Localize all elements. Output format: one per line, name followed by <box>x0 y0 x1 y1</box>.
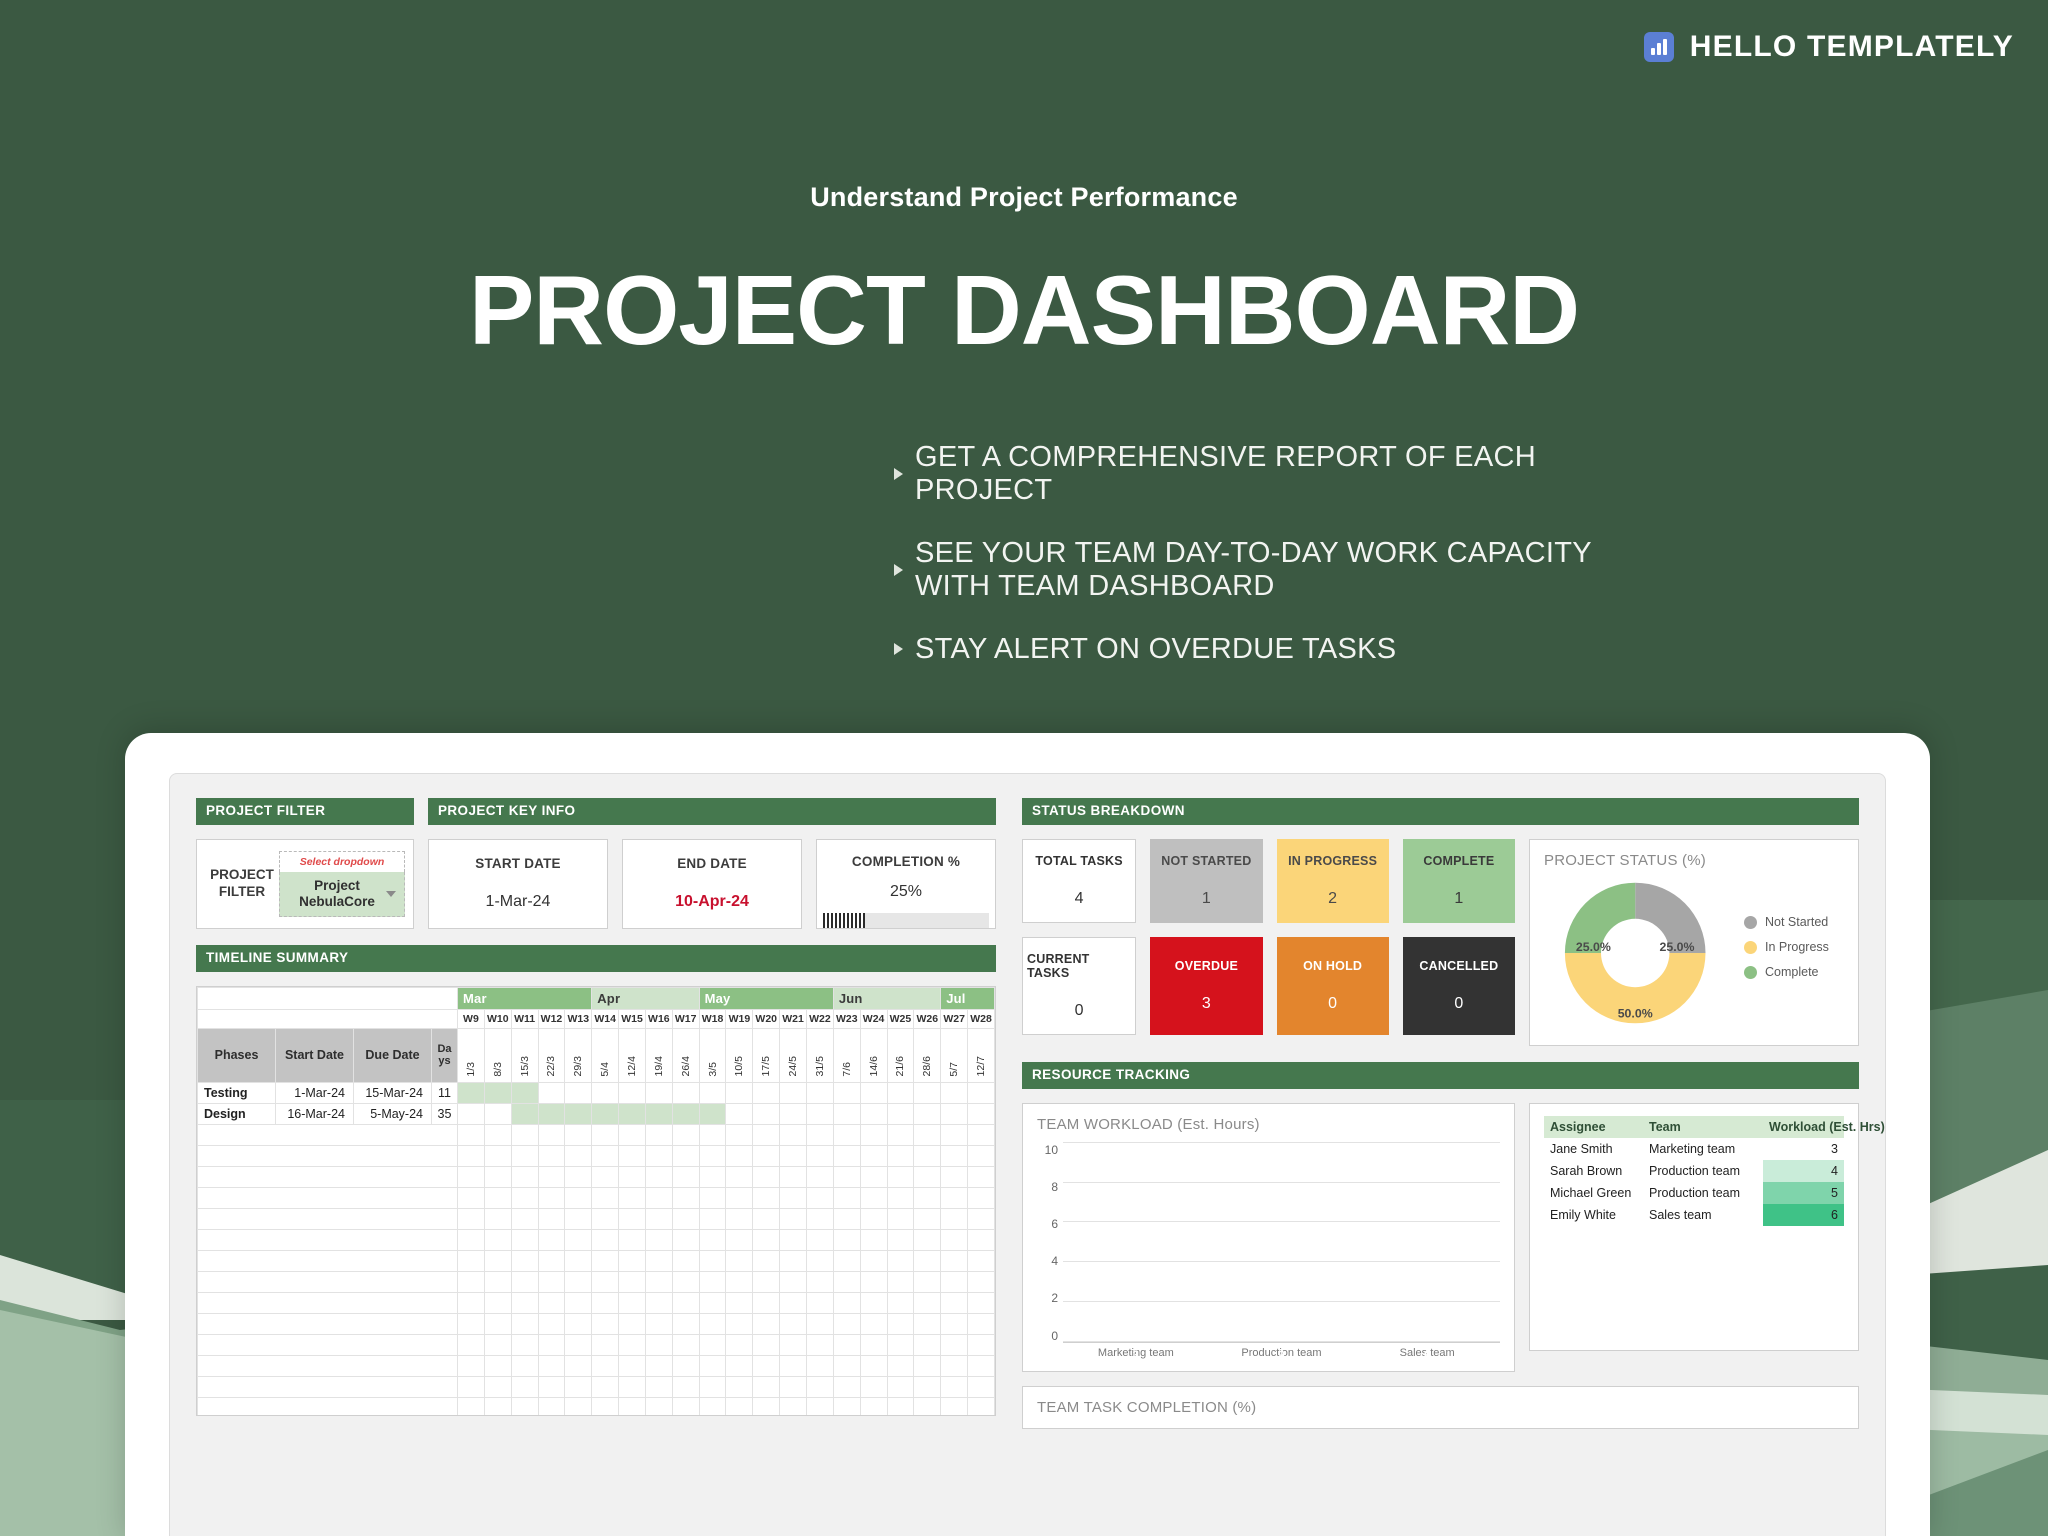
table-row: Design16-Mar-245-May-2435 <box>198 1103 995 1124</box>
gantt-slot <box>672 1376 699 1397</box>
gantt-slot <box>941 1208 968 1229</box>
gantt-date-cell: 1/3 <box>458 1028 485 1082</box>
gantt-slot <box>860 1292 887 1313</box>
gantt-slot <box>860 1166 887 1187</box>
gantt-slot <box>753 1229 780 1250</box>
gantt-slot <box>806 1166 833 1187</box>
gantt-slot <box>887 1208 914 1229</box>
gantt-slot <box>645 1397 672 1416</box>
gantt-slot <box>699 1271 726 1292</box>
gantt-slot <box>968 1334 995 1355</box>
gantt-slot <box>619 1187 646 1208</box>
gantt-slot <box>538 1166 565 1187</box>
gantt-slot <box>511 1124 538 1145</box>
gantt-slot <box>619 1271 646 1292</box>
legend-label: Not Started <box>1765 915 1828 929</box>
gantt-slot <box>726 1397 753 1416</box>
gantt-slot <box>672 1334 699 1355</box>
gantt-slot <box>538 1271 565 1292</box>
gantt-slot <box>592 1187 619 1208</box>
gantt-slot <box>780 1124 807 1145</box>
section-header-resource-tracking: RESOURCE TRACKING <box>1022 1062 1859 1089</box>
gantt-slot <box>565 1292 592 1313</box>
dropdown-value: Project NebulaCore <box>288 878 386 910</box>
dropdown-hint: Select dropdown <box>279 851 405 872</box>
table-header-row: AssigneeTeamWorkload (Est. Hrs) <box>1544 1116 1844 1138</box>
gantt-slot <box>619 1103 646 1124</box>
gantt-slot <box>914 1208 941 1229</box>
table-row-empty <box>198 1124 995 1145</box>
gantt-slot <box>699 1229 726 1250</box>
gantt-slot <box>941 1334 968 1355</box>
gantt-slot <box>484 1166 511 1187</box>
gantt-slot <box>941 1124 968 1145</box>
gantt-week-cell: W11 <box>511 1009 538 1028</box>
gantt-slot <box>968 1145 995 1166</box>
gantt-slot <box>619 1208 646 1229</box>
team-workload-chart-card: TEAM WORKLOAD (Est. Hours) 1086420 396 M… <box>1022 1103 1515 1372</box>
gantt-slot <box>780 1208 807 1229</box>
section-header-project-key-info: PROJECT KEY INFO <box>428 798 996 825</box>
gantt-slot <box>941 1229 968 1250</box>
gantt-slot <box>887 1103 914 1124</box>
kpi-start-date: START DATE 1-Mar-24 <box>428 839 608 929</box>
project-status-donut-card: PROJECT STATUS (%) 25 <box>1529 839 1859 1046</box>
gantt-date-cell: 22/3 <box>538 1028 565 1082</box>
gantt-slot <box>619 1397 646 1416</box>
gantt-slot <box>458 1376 485 1397</box>
gantt-slot <box>780 1082 807 1103</box>
brand-name: HELLO TEMPLATELY <box>1690 30 2014 64</box>
y-tick: 0 <box>1051 1329 1058 1343</box>
gantt-slot <box>833 1229 860 1250</box>
gantt-slot <box>968 1103 995 1124</box>
gantt-slot <box>753 1208 780 1229</box>
status-tile-value: 1 <box>1202 890 1211 908</box>
gantt-slot <box>672 1229 699 1250</box>
gantt-slot <box>968 1250 995 1271</box>
gantt-slot <box>833 1292 860 1313</box>
gantt-slot <box>780 1292 807 1313</box>
gantt-slot <box>726 1145 753 1166</box>
gantt-slot <box>726 1376 753 1397</box>
gantt-date-cell: 7/6 <box>833 1028 860 1082</box>
gantt-slot <box>565 1145 592 1166</box>
donut-chart: 25.0% 25.0% 50.0% <box>1544 873 1734 1033</box>
gantt-slot <box>458 1166 485 1187</box>
gantt-slot <box>860 1187 887 1208</box>
gantt-slot <box>592 1292 619 1313</box>
gantt-slot <box>833 1145 860 1166</box>
project-dropdown[interactable]: Select dropdown Project NebulaCore <box>279 851 405 917</box>
gantt-slot <box>726 1229 753 1250</box>
gantt-slot <box>645 1334 672 1355</box>
gantt-month-cell: Mar <box>458 987 592 1009</box>
gantt-due-date: 5-May-24 <box>354 1103 432 1124</box>
triangle-bullet-icon <box>894 468 903 480</box>
gantt-slot <box>780 1229 807 1250</box>
gantt-slot <box>645 1124 672 1145</box>
gantt-slot <box>511 1376 538 1397</box>
gantt-slot <box>511 1271 538 1292</box>
legend-label: Complete <box>1765 965 1819 979</box>
gantt-slot <box>780 1187 807 1208</box>
col-workload: Workload (Est. Hrs) <box>1763 1116 1844 1138</box>
gantt-slot <box>619 1292 646 1313</box>
gantt-chart: MarAprMayJunJulW9W10W11W12W13W14W15W16W1… <box>196 986 996 1416</box>
gantt-slot <box>699 1082 726 1103</box>
gantt-slot <box>538 1145 565 1166</box>
gantt-month-cell: Jul <box>941 987 995 1009</box>
gantt-empty-label <box>198 1208 458 1229</box>
status-tile-value: 2 <box>1328 890 1337 908</box>
gantt-date-cell: 26/4 <box>672 1028 699 1082</box>
status-tile-value: 4 <box>1075 890 1084 908</box>
gantt-slot <box>592 1271 619 1292</box>
gantt-slot <box>914 1103 941 1124</box>
status-tile-value: 0 <box>1328 995 1337 1013</box>
gantt-slot <box>860 1355 887 1376</box>
triangle-bullet-icon <box>894 643 903 655</box>
table-row-empty <box>198 1208 995 1229</box>
status-tile-label: COMPLETE <box>1423 854 1494 868</box>
gantt-slot <box>860 1124 887 1145</box>
gantt-col-days: Days <box>432 1028 458 1082</box>
legend-label: In Progress <box>1765 940 1829 954</box>
gantt-slot <box>619 1334 646 1355</box>
gantt-date-cell: 17/5 <box>753 1028 780 1082</box>
gantt-slot <box>806 1313 833 1334</box>
gantt-slot <box>726 1082 753 1103</box>
gantt-slot <box>484 1145 511 1166</box>
cell-assignee: Michael Green <box>1544 1182 1643 1204</box>
gantt-date-cell: 14/6 <box>860 1028 887 1082</box>
feature-label: SEE YOUR TEAM DAY-TO-DAY WORK CAPACITY W… <box>915 537 1614 603</box>
gantt-slot <box>914 1397 941 1416</box>
gantt-slot <box>806 1250 833 1271</box>
table-row-empty <box>198 1313 995 1334</box>
table-row-empty <box>198 1376 995 1397</box>
gantt-slot <box>458 1208 485 1229</box>
gantt-week-cell: W14 <box>592 1009 619 1028</box>
gantt-slot <box>941 1103 968 1124</box>
gantt-slot <box>833 1124 860 1145</box>
gantt-slot <box>887 1271 914 1292</box>
gantt-days: 35 <box>432 1103 458 1124</box>
dropdown-control[interactable]: Project NebulaCore <box>279 872 405 917</box>
gantt-slot <box>484 1250 511 1271</box>
gantt-week-cell: W23 <box>833 1009 860 1028</box>
gantt-slot <box>806 1334 833 1355</box>
gantt-slot <box>672 1103 699 1124</box>
gantt-slot <box>592 1124 619 1145</box>
gantt-blank-cell <box>198 1009 458 1028</box>
gantt-slot <box>565 1124 592 1145</box>
table-row-empty <box>198 1166 995 1187</box>
gantt-date-cell: 31/5 <box>806 1028 833 1082</box>
table-row-empty <box>198 1397 995 1416</box>
chevron-down-icon[interactable] <box>386 891 396 897</box>
bar-plot-area: 396 <box>1063 1143 1500 1343</box>
gantt-slot <box>806 1376 833 1397</box>
section-header-project-filter: PROJECT FILTER <box>196 798 414 825</box>
gantt-slot <box>780 1334 807 1355</box>
gantt-slot <box>887 1187 914 1208</box>
status-tile-value: 0 <box>1454 995 1463 1013</box>
gantt-week-cell: W24 <box>860 1009 887 1028</box>
gantt-slot <box>565 1187 592 1208</box>
gantt-empty-label <box>198 1124 458 1145</box>
gantt-date-cell: 8/3 <box>484 1028 511 1082</box>
gantt-empty-label <box>198 1313 458 1334</box>
status-tile-label: IN PROGRESS <box>1288 854 1377 868</box>
gantt-slot <box>699 1145 726 1166</box>
cell-team: Production team <box>1643 1160 1763 1182</box>
table-row-empty <box>198 1229 995 1250</box>
section-header-status-breakdown: STATUS BREAKDOWN <box>1022 798 1859 825</box>
status-tile-value: 3 <box>1202 995 1211 1013</box>
gantt-empty-label <box>198 1271 458 1292</box>
gantt-slot <box>645 1103 672 1124</box>
gantt-slot <box>753 1355 780 1376</box>
gantt-date-cell: 29/3 <box>565 1028 592 1082</box>
gantt-slot <box>458 1313 485 1334</box>
gantt-week-cell: W15 <box>619 1009 646 1028</box>
gantt-slot <box>860 1145 887 1166</box>
gantt-slot <box>565 1313 592 1334</box>
gantt-slot <box>672 1292 699 1313</box>
gantt-slot <box>753 1082 780 1103</box>
table-row: Michael GreenProduction team5 <box>1544 1182 1844 1204</box>
gantt-week-cell: W21 <box>780 1009 807 1028</box>
gantt-slot <box>753 1124 780 1145</box>
gantt-slot <box>726 1124 753 1145</box>
gantt-slot <box>753 1145 780 1166</box>
assignee-table: AssigneeTeamWorkload (Est. Hrs)Jane Smit… <box>1544 1116 1844 1226</box>
brand-logo-group: HELLO TEMPLATELY <box>1644 30 2014 64</box>
table-row: Jane SmithMarketing team3 <box>1544 1138 1844 1160</box>
gantt-slot <box>780 1355 807 1376</box>
table-row-empty <box>198 1187 995 1208</box>
gantt-slot <box>726 1271 753 1292</box>
gantt-slot <box>941 1376 968 1397</box>
gantt-slot <box>914 1334 941 1355</box>
gantt-slot <box>672 1145 699 1166</box>
gantt-empty-label <box>198 1376 458 1397</box>
gantt-slot <box>645 1166 672 1187</box>
gantt-slot <box>887 1397 914 1416</box>
table-row-empty <box>198 1145 995 1166</box>
gantt-slot <box>484 1187 511 1208</box>
gantt-slot <box>619 1082 646 1103</box>
gantt-slot <box>860 1103 887 1124</box>
grid-line <box>1063 1341 1500 1342</box>
legend-item: Not Started <box>1744 915 1829 929</box>
gantt-slot <box>484 1376 511 1397</box>
gantt-slot <box>645 1292 672 1313</box>
gantt-slot <box>914 1250 941 1271</box>
gantt-slot <box>968 1355 995 1376</box>
status-tile-in-progress: IN PROGRESS 2 <box>1277 839 1389 923</box>
gantt-slot <box>887 1124 914 1145</box>
gantt-blank-cell <box>198 987 458 1009</box>
gantt-slot <box>968 1292 995 1313</box>
table-row-empty <box>198 1292 995 1313</box>
gantt-slot <box>780 1313 807 1334</box>
gantt-slot <box>833 1208 860 1229</box>
cell-workload: 6 <box>1763 1204 1844 1226</box>
gantt-slot <box>511 1103 538 1124</box>
gantt-slot <box>806 1292 833 1313</box>
gantt-slot <box>484 1292 511 1313</box>
gantt-slot <box>887 1250 914 1271</box>
gantt-slot <box>592 1082 619 1103</box>
dashboard-screen: PROJECT FILTER PROJECT KEY INFO PROJECT … <box>169 773 1886 1536</box>
gantt-slot <box>914 1145 941 1166</box>
gantt-slot <box>672 1082 699 1103</box>
table-row-empty <box>198 1334 995 1355</box>
gantt-slot <box>833 1166 860 1187</box>
gantt-slot <box>699 1313 726 1334</box>
gantt-date-cell: 19/4 <box>645 1028 672 1082</box>
gantt-slot <box>968 1313 995 1334</box>
gantt-slot <box>511 1229 538 1250</box>
gantt-slot <box>968 1271 995 1292</box>
gantt-week-cell: W17 <box>672 1009 699 1028</box>
gantt-slot <box>726 1292 753 1313</box>
list-item: GET A COMPREHENSIVE REPORT OF EACH PROJE… <box>894 441 1614 507</box>
gantt-slot <box>753 1376 780 1397</box>
gantt-slot <box>753 1166 780 1187</box>
gantt-slot <box>538 1229 565 1250</box>
gantt-slot <box>699 1103 726 1124</box>
gantt-slot <box>565 1397 592 1416</box>
gantt-slot <box>699 1376 726 1397</box>
gantt-slot <box>860 1082 887 1103</box>
chart-title: PROJECT STATUS (%) <box>1544 852 1844 869</box>
gantt-date-cell: 12/4 <box>619 1028 646 1082</box>
kpi-label: START DATE <box>475 856 561 871</box>
gantt-slot <box>672 1250 699 1271</box>
gantt-slot <box>592 1166 619 1187</box>
gantt-slot <box>538 1103 565 1124</box>
gantt-slot <box>672 1187 699 1208</box>
grid-line <box>1063 1221 1500 1222</box>
gantt-empty-label <box>198 1250 458 1271</box>
donut-slice-label-1: 50.0% <box>1618 1006 1653 1020</box>
gantt-slot <box>726 1103 753 1124</box>
hero-eyebrow: Understand Project Performance <box>0 182 2048 213</box>
gantt-week-cell: W13 <box>565 1009 592 1028</box>
gantt-slot <box>484 1355 511 1376</box>
gantt-slot <box>699 1250 726 1271</box>
gantt-slot <box>619 1145 646 1166</box>
status-tile-value: 0 <box>1075 1002 1084 1020</box>
status-tile-complete: COMPLETE 1 <box>1403 839 1515 923</box>
gantt-slot <box>780 1397 807 1416</box>
gantt-slot <box>484 1208 511 1229</box>
gantt-slot <box>699 1355 726 1376</box>
bar-value-label: 6 <box>1391 1350 1463 1362</box>
gantt-slot <box>780 1250 807 1271</box>
donut-slice-label-2: 25.0% <box>1576 940 1611 954</box>
gantt-slot <box>619 1313 646 1334</box>
gantt-empty-label <box>198 1334 458 1355</box>
gantt-week-cell: W22 <box>806 1009 833 1028</box>
cell-assignee: Sarah Brown <box>1544 1160 1643 1182</box>
gantt-slot <box>645 1208 672 1229</box>
gantt-slot <box>833 1397 860 1416</box>
gantt-slot <box>806 1271 833 1292</box>
gantt-slot <box>458 1397 485 1416</box>
gantt-slot <box>726 1166 753 1187</box>
col-assignee: Assignee <box>1544 1116 1643 1138</box>
laptop-mockup: PROJECT FILTER PROJECT KEY INFO PROJECT … <box>125 733 1930 1536</box>
gantt-slot <box>619 1250 646 1271</box>
gantt-slot <box>968 1187 995 1208</box>
gantt-slot <box>538 1124 565 1145</box>
gantt-slot <box>645 1313 672 1334</box>
grid-line <box>1063 1182 1500 1183</box>
gantt-slot <box>753 1292 780 1313</box>
kpi-value: 1-Mar-24 <box>486 893 551 911</box>
gantt-week-cell: W28 <box>968 1009 995 1028</box>
gantt-slot <box>699 1187 726 1208</box>
gantt-slot <box>484 1334 511 1355</box>
gantt-slot <box>484 1397 511 1416</box>
gantt-empty-label <box>198 1145 458 1166</box>
y-tick: 4 <box>1051 1254 1058 1268</box>
kpi-value: 25% <box>890 883 922 901</box>
gantt-slot <box>914 1166 941 1187</box>
gantt-week-cell: W9 <box>458 1009 485 1028</box>
gantt-slot <box>592 1376 619 1397</box>
chart-title: TEAM WORKLOAD (Est. Hours) <box>1037 1116 1500 1133</box>
gantt-slot <box>914 1292 941 1313</box>
gantt-slot <box>672 1313 699 1334</box>
gantt-slot <box>968 1082 995 1103</box>
gantt-slot <box>941 1313 968 1334</box>
gantt-slot <box>645 1082 672 1103</box>
gantt-slot <box>592 1229 619 1250</box>
gantt-slot <box>699 1292 726 1313</box>
gantt-slot <box>592 1145 619 1166</box>
donut-legend: Not Started In Progress Complete <box>1744 915 1829 990</box>
gantt-start-date: 16-Mar-24 <box>276 1103 354 1124</box>
gantt-slot <box>753 1250 780 1271</box>
gantt-days: 11 <box>432 1082 458 1103</box>
triangle-bullet-icon <box>894 564 903 576</box>
gantt-col-start: Start Date <box>276 1028 354 1082</box>
gantt-month-cell: Jun <box>833 987 940 1009</box>
legend-item: In Progress <box>1744 940 1829 954</box>
gantt-slot <box>780 1145 807 1166</box>
gantt-slot <box>458 1292 485 1313</box>
gantt-slot <box>968 1124 995 1145</box>
kpi-label: COMPLETION % <box>852 854 960 869</box>
gantt-slot <box>806 1103 833 1124</box>
gantt-slot <box>806 1145 833 1166</box>
col-team: Team <box>1643 1116 1763 1138</box>
gantt-slot <box>887 1229 914 1250</box>
gantt-slot <box>914 1124 941 1145</box>
gantt-slot <box>887 1313 914 1334</box>
gantt-slot <box>806 1124 833 1145</box>
gantt-slot <box>511 1082 538 1103</box>
gantt-slot <box>887 1334 914 1355</box>
gantt-slot <box>914 1313 941 1334</box>
gantt-date-cell: 28/6 <box>914 1028 941 1082</box>
